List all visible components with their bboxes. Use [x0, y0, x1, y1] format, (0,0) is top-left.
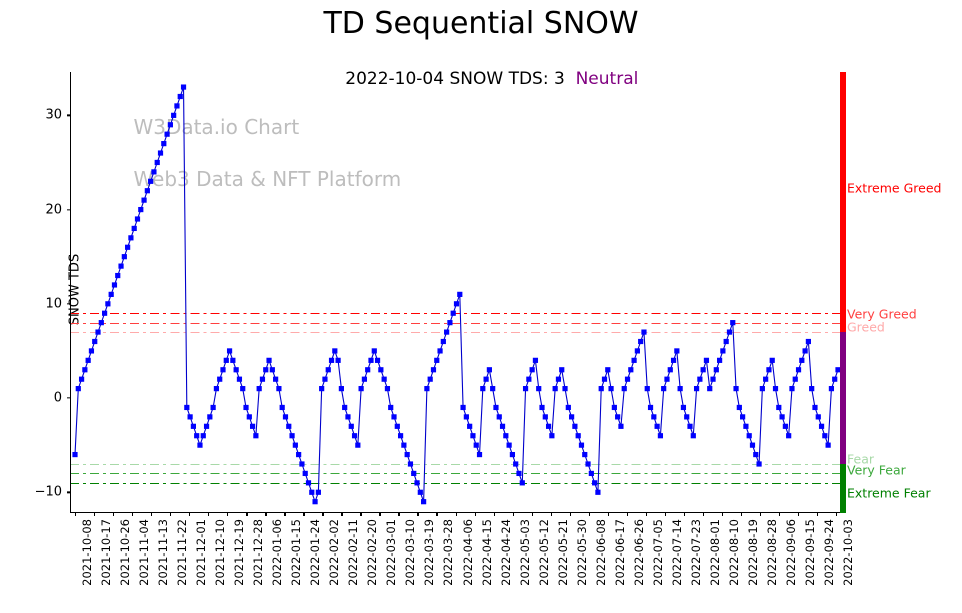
series-point — [178, 94, 183, 99]
series-point — [638, 339, 643, 344]
series-point — [487, 367, 492, 372]
series-point — [303, 471, 308, 476]
series-point — [122, 254, 127, 259]
series-point — [648, 405, 653, 410]
series-point — [306, 480, 311, 485]
series-point — [99, 320, 104, 325]
series-point — [414, 480, 419, 485]
series-point — [684, 414, 689, 419]
series-point — [530, 367, 535, 372]
series-point — [372, 348, 377, 353]
series-point — [230, 358, 235, 363]
series-point — [826, 443, 831, 448]
series-point — [161, 141, 166, 146]
series-point — [312, 499, 317, 504]
series-point — [457, 292, 462, 297]
x-tick-label: 2022-06-08 — [594, 519, 608, 586]
series-point — [724, 339, 729, 344]
x-tick-label: 2022-05-21 — [556, 519, 570, 586]
series-point — [336, 358, 341, 363]
series-point — [816, 414, 821, 419]
series-point — [812, 405, 817, 410]
series-point — [378, 367, 383, 372]
x-tick-label: 2022-03-01 — [384, 519, 398, 586]
series-point — [510, 452, 515, 457]
series-point — [737, 405, 742, 410]
series-point — [635, 348, 640, 353]
series-point — [500, 424, 505, 429]
series-point — [697, 377, 702, 382]
series-point — [520, 480, 525, 485]
series-point — [641, 329, 646, 334]
series-point — [803, 348, 808, 353]
series-point — [309, 490, 314, 495]
series-point — [289, 433, 294, 438]
series-point — [273, 377, 278, 382]
series-point — [612, 405, 617, 410]
series-point — [793, 377, 798, 382]
series-point — [207, 414, 212, 419]
series-point — [388, 405, 393, 410]
x-tick-label: 2022-07-14 — [670, 519, 684, 586]
series-point — [155, 160, 160, 165]
series-point — [592, 480, 597, 485]
series-point — [391, 414, 396, 419]
x-tick-label: 2022-09-06 — [784, 519, 798, 586]
series-point — [72, 452, 77, 457]
series-point — [204, 424, 209, 429]
series-point — [753, 452, 758, 457]
series-point — [332, 348, 337, 353]
series-point — [201, 433, 206, 438]
sidebar-segment-extreme-fear — [840, 464, 846, 513]
series-point — [743, 424, 748, 429]
series-point — [526, 377, 531, 382]
series-point — [280, 405, 285, 410]
series-point — [191, 424, 196, 429]
series-point — [128, 235, 133, 240]
series-point — [645, 386, 650, 391]
series-point — [533, 358, 538, 363]
series-point — [326, 367, 331, 372]
series-point — [536, 386, 541, 391]
series-point — [467, 424, 472, 429]
series-point — [385, 386, 390, 391]
series-point — [655, 424, 660, 429]
series-point — [158, 150, 163, 155]
series-point — [579, 443, 584, 448]
series-point — [714, 367, 719, 372]
x-tick-label: 2021-11-13 — [156, 519, 170, 586]
series-point — [227, 348, 232, 353]
series-point — [691, 433, 696, 438]
series-point — [405, 452, 410, 457]
series-point — [740, 414, 745, 419]
series-point — [776, 405, 781, 410]
series-point — [507, 443, 512, 448]
series-point — [809, 386, 814, 391]
series-point — [316, 490, 321, 495]
series-point — [474, 443, 479, 448]
x-tick-label: 2022-10-03 — [841, 519, 855, 586]
series-point — [658, 433, 663, 438]
series-point — [553, 386, 558, 391]
series-point — [437, 348, 442, 353]
series-point — [431, 367, 436, 372]
series-point — [786, 433, 791, 438]
series-point — [543, 414, 548, 419]
x-tick-label: 2022-08-01 — [708, 519, 722, 586]
series-point — [484, 377, 489, 382]
x-tick-label: 2022-09-15 — [803, 519, 817, 586]
series-point — [733, 386, 738, 391]
x-tick-label: 2021-12-01 — [194, 519, 208, 586]
series-point — [572, 424, 577, 429]
series-point — [631, 358, 636, 363]
series-point — [674, 348, 679, 353]
series-point — [470, 433, 475, 438]
series-point — [585, 461, 590, 466]
zone-label-very-fear: Very Fear — [847, 463, 906, 478]
series-point — [339, 386, 344, 391]
series-point — [490, 386, 495, 391]
series-point — [105, 301, 110, 306]
x-tick-label: 2022-06-26 — [632, 519, 646, 586]
series-point — [595, 490, 600, 495]
x-tick-label: 2022-03-28 — [441, 519, 455, 586]
series-point — [174, 103, 179, 108]
x-tick-label: 2021-12-10 — [213, 519, 227, 586]
x-tick-label: 2021-10-08 — [80, 519, 94, 586]
series-point — [556, 377, 561, 382]
series-point — [750, 443, 755, 448]
series-point — [296, 452, 301, 457]
series-point — [375, 358, 380, 363]
series-point — [164, 132, 169, 137]
x-tick-label: 2022-08-19 — [746, 519, 760, 586]
series-point — [710, 377, 715, 382]
series-point — [671, 358, 676, 363]
td-sequential-chart: TD Sequential SNOW 2022-10-04 SNOW TDS: … — [0, 0, 962, 613]
series-point — [503, 433, 508, 438]
series-point — [756, 461, 761, 466]
series-point — [240, 386, 245, 391]
series-point — [168, 122, 173, 127]
series-point — [480, 386, 485, 391]
series-point — [687, 424, 692, 429]
series-point — [796, 367, 801, 372]
series-point — [283, 414, 288, 419]
x-tick-label: 2022-04-06 — [461, 519, 475, 586]
series-point — [224, 358, 229, 363]
series-point — [342, 405, 347, 410]
series-point — [382, 377, 387, 382]
series-point — [727, 329, 732, 334]
series-point — [569, 414, 574, 419]
series-point — [441, 339, 446, 344]
series-point — [79, 377, 84, 382]
series-point — [599, 386, 604, 391]
x-tick-label: 2022-09-24 — [822, 519, 836, 586]
series-point — [82, 367, 87, 372]
series-point — [615, 414, 620, 419]
series-point — [257, 386, 262, 391]
series-point — [806, 339, 811, 344]
plot-area: SNOW TDS −100102030 2021-10-082021-10-17… — [70, 72, 843, 513]
series-point — [188, 414, 193, 419]
series-point — [460, 405, 465, 410]
series-point — [109, 292, 114, 297]
series-point — [184, 405, 189, 410]
series-point — [349, 424, 354, 429]
series-point — [664, 377, 669, 382]
series-point — [779, 414, 784, 419]
x-tick-label: 2022-06-17 — [613, 519, 627, 586]
series-point — [694, 386, 699, 391]
series-point — [730, 320, 735, 325]
series-point — [217, 377, 222, 382]
series-point — [76, 386, 81, 391]
series-point — [701, 367, 706, 372]
series-point — [299, 461, 304, 466]
series-point — [523, 386, 528, 391]
series-point — [819, 424, 824, 429]
series-point — [717, 358, 722, 363]
series-point — [789, 386, 794, 391]
x-tick-label: 2021-12-28 — [251, 519, 265, 586]
series-point — [135, 216, 140, 221]
series-point — [220, 367, 225, 372]
series-point — [434, 358, 439, 363]
series-point — [398, 433, 403, 438]
series-point — [352, 433, 357, 438]
x-tick-label: 2022-05-12 — [537, 519, 551, 586]
series-point — [148, 179, 153, 184]
series-point — [747, 433, 752, 438]
series-point — [464, 414, 469, 419]
series-point — [618, 424, 623, 429]
series-point — [95, 329, 100, 334]
series-point — [368, 358, 373, 363]
series-point — [138, 207, 143, 212]
x-tick-label: 2022-07-23 — [689, 519, 703, 586]
x-tick-label: 2021-10-26 — [118, 519, 132, 586]
series-point — [276, 386, 281, 391]
series-point — [214, 386, 219, 391]
series-point — [424, 386, 429, 391]
series-point — [668, 367, 673, 372]
series-point — [783, 424, 788, 429]
series-point — [234, 367, 239, 372]
series-point — [118, 264, 123, 269]
x-tick-label: 2022-05-30 — [575, 519, 589, 586]
series-point — [661, 386, 666, 391]
series-point — [243, 405, 248, 410]
series-point — [181, 84, 186, 89]
zone-label-extreme-fear: Extreme Fear — [847, 486, 931, 501]
series-point — [418, 490, 423, 495]
series-point — [253, 433, 258, 438]
series-point — [125, 245, 130, 250]
series-point — [625, 377, 630, 382]
series-point — [760, 386, 765, 391]
x-tick-label: 2022-02-02 — [327, 519, 341, 586]
series-point — [799, 358, 804, 363]
series-point — [112, 282, 117, 287]
series-point — [92, 339, 97, 344]
series-point — [454, 301, 459, 306]
series-point — [589, 471, 594, 476]
series-point — [115, 273, 120, 278]
series-point — [678, 386, 683, 391]
series-point — [319, 386, 324, 391]
series-point — [132, 226, 137, 231]
series-point — [250, 424, 255, 429]
x-tick-label: 2022-07-05 — [651, 519, 665, 586]
x-tick-label: 2022-02-20 — [365, 519, 379, 586]
series-point — [539, 405, 544, 410]
series-point — [477, 452, 482, 457]
x-tick-label: 2022-04-15 — [480, 519, 494, 586]
series-point — [516, 471, 521, 476]
x-tick-label: 2022-01-06 — [270, 519, 284, 586]
series-point — [720, 348, 725, 353]
series-point — [822, 433, 827, 438]
series-point — [766, 367, 771, 372]
series-point — [286, 424, 291, 429]
x-tick-label: 2022-03-19 — [422, 519, 436, 586]
tds-series — [71, 72, 844, 513]
series-point — [345, 414, 350, 419]
series-point — [763, 377, 768, 382]
series-point — [428, 377, 433, 382]
x-tick-label: 2022-01-24 — [308, 519, 322, 586]
series-point — [171, 113, 176, 118]
x-tick-label: 2021-11-04 — [137, 519, 151, 586]
series-point — [546, 424, 551, 429]
series-point — [559, 367, 564, 372]
series-point — [355, 443, 360, 448]
sidebar-segment-extreme-greed — [840, 72, 846, 332]
series-point — [237, 377, 242, 382]
series-point — [451, 311, 456, 316]
series-point — [247, 414, 252, 419]
series-point — [497, 414, 502, 419]
series-point — [773, 386, 778, 391]
series-point — [411, 471, 416, 476]
series-point — [605, 367, 610, 372]
x-tick-label: 2021-12-19 — [232, 519, 246, 586]
y-tick-label: −10 — [35, 485, 71, 500]
series-point — [576, 433, 581, 438]
series-point — [329, 358, 334, 363]
x-tick-label: 2021-11-22 — [175, 519, 189, 586]
series-point — [401, 443, 406, 448]
series-point — [562, 386, 567, 391]
series-point — [145, 188, 150, 193]
zone-label-extreme-greed: Extreme Greed — [847, 181, 941, 196]
series-point — [608, 386, 613, 391]
series-point — [86, 358, 91, 363]
series-point — [628, 367, 633, 372]
series-point — [651, 414, 656, 419]
series-point — [266, 358, 271, 363]
series-point — [211, 405, 216, 410]
series-point — [832, 377, 837, 382]
series-point — [395, 424, 400, 429]
series-point — [421, 499, 426, 504]
x-tick-label: 2022-08-28 — [765, 519, 779, 586]
series-point — [197, 443, 202, 448]
series-point — [622, 386, 627, 391]
series-point — [447, 320, 452, 325]
x-tick-label: 2021-10-17 — [99, 519, 113, 586]
series-point — [151, 169, 156, 174]
series-point — [602, 377, 607, 382]
x-tick-label: 2022-04-24 — [499, 519, 513, 586]
series-point — [582, 452, 587, 457]
series-point — [260, 377, 265, 382]
sidebar-segment-neutral — [840, 332, 846, 464]
series-point — [359, 386, 364, 391]
series-point — [549, 433, 554, 438]
x-tick-label: 2022-02-11 — [346, 519, 360, 586]
series-point — [263, 367, 268, 372]
series-line — [75, 87, 838, 502]
series-point — [493, 405, 498, 410]
series-point — [566, 405, 571, 410]
series-point — [89, 348, 94, 353]
series-point — [707, 386, 712, 391]
page-title: TD Sequential SNOW — [0, 6, 962, 42]
x-tick-label: 2022-05-03 — [518, 519, 532, 586]
series-point — [704, 358, 709, 363]
series-point — [408, 461, 413, 466]
series-point — [829, 386, 834, 391]
series-point — [293, 443, 298, 448]
zone-label-greed: Greed — [847, 320, 885, 335]
series-point — [141, 198, 146, 203]
series-point — [322, 377, 327, 382]
series-point — [681, 405, 686, 410]
series-point — [270, 367, 275, 372]
series-point — [513, 461, 518, 466]
series-point — [194, 433, 199, 438]
series-point — [365, 367, 370, 372]
series-point — [770, 358, 775, 363]
series-point — [444, 329, 449, 334]
x-tick-label: 2022-08-10 — [727, 519, 741, 586]
series-point — [362, 377, 367, 382]
x-tick-label: 2022-03-10 — [403, 519, 417, 586]
series-point — [102, 311, 107, 316]
x-tick-label: 2022-01-15 — [289, 519, 303, 586]
